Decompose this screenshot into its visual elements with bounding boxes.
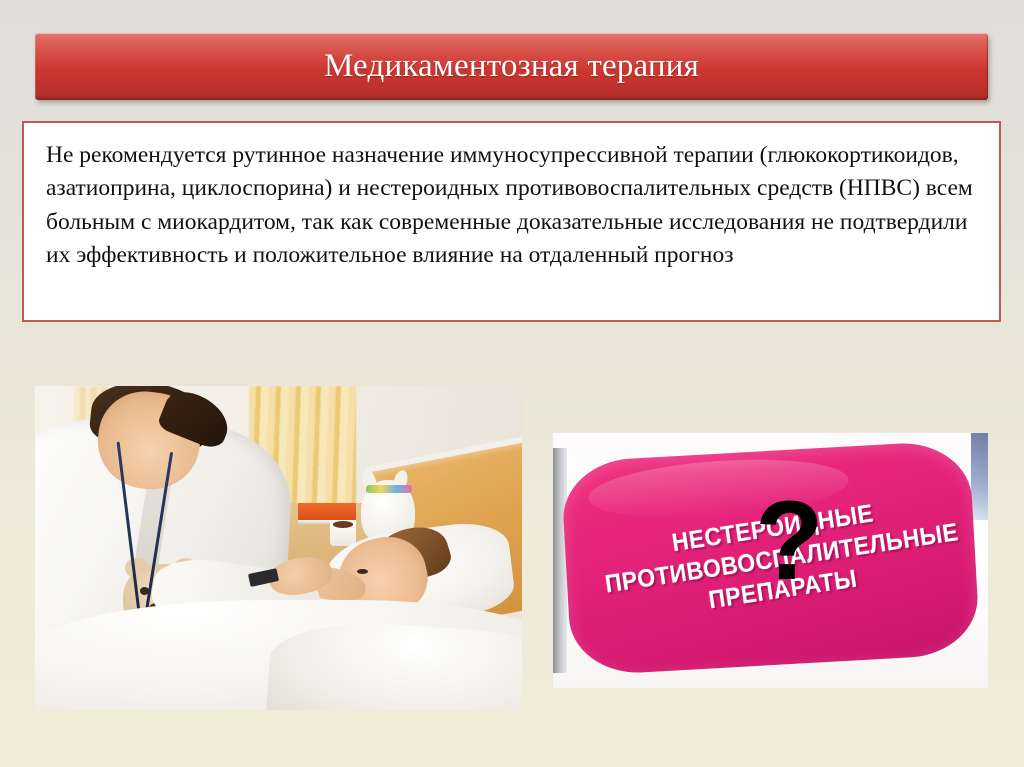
child-eye	[357, 569, 368, 574]
content-paragraph: Не рекомендуется рутинное назначение имм…	[46, 139, 977, 273]
content-text-card: Не рекомендуется рутинное назначение имм…	[22, 121, 1001, 322]
mug-contents	[333, 521, 353, 527]
nsaid-card-photo: НЕСТЕРОИДНЫЕ ПРОТИВОВОСПАЛИТЕЛЬНЫЕ ПРЕПА…	[553, 433, 988, 688]
slide-title-banner: Медикаментозная терапия	[35, 33, 988, 100]
toy-rabbit-headband	[366, 485, 412, 493]
question-mark-icon: ?	[755, 485, 823, 597]
doctor-examining-child-photo	[35, 386, 522, 710]
page-title: Медикаментозная терапия	[324, 50, 699, 83]
red-book	[298, 503, 356, 521]
